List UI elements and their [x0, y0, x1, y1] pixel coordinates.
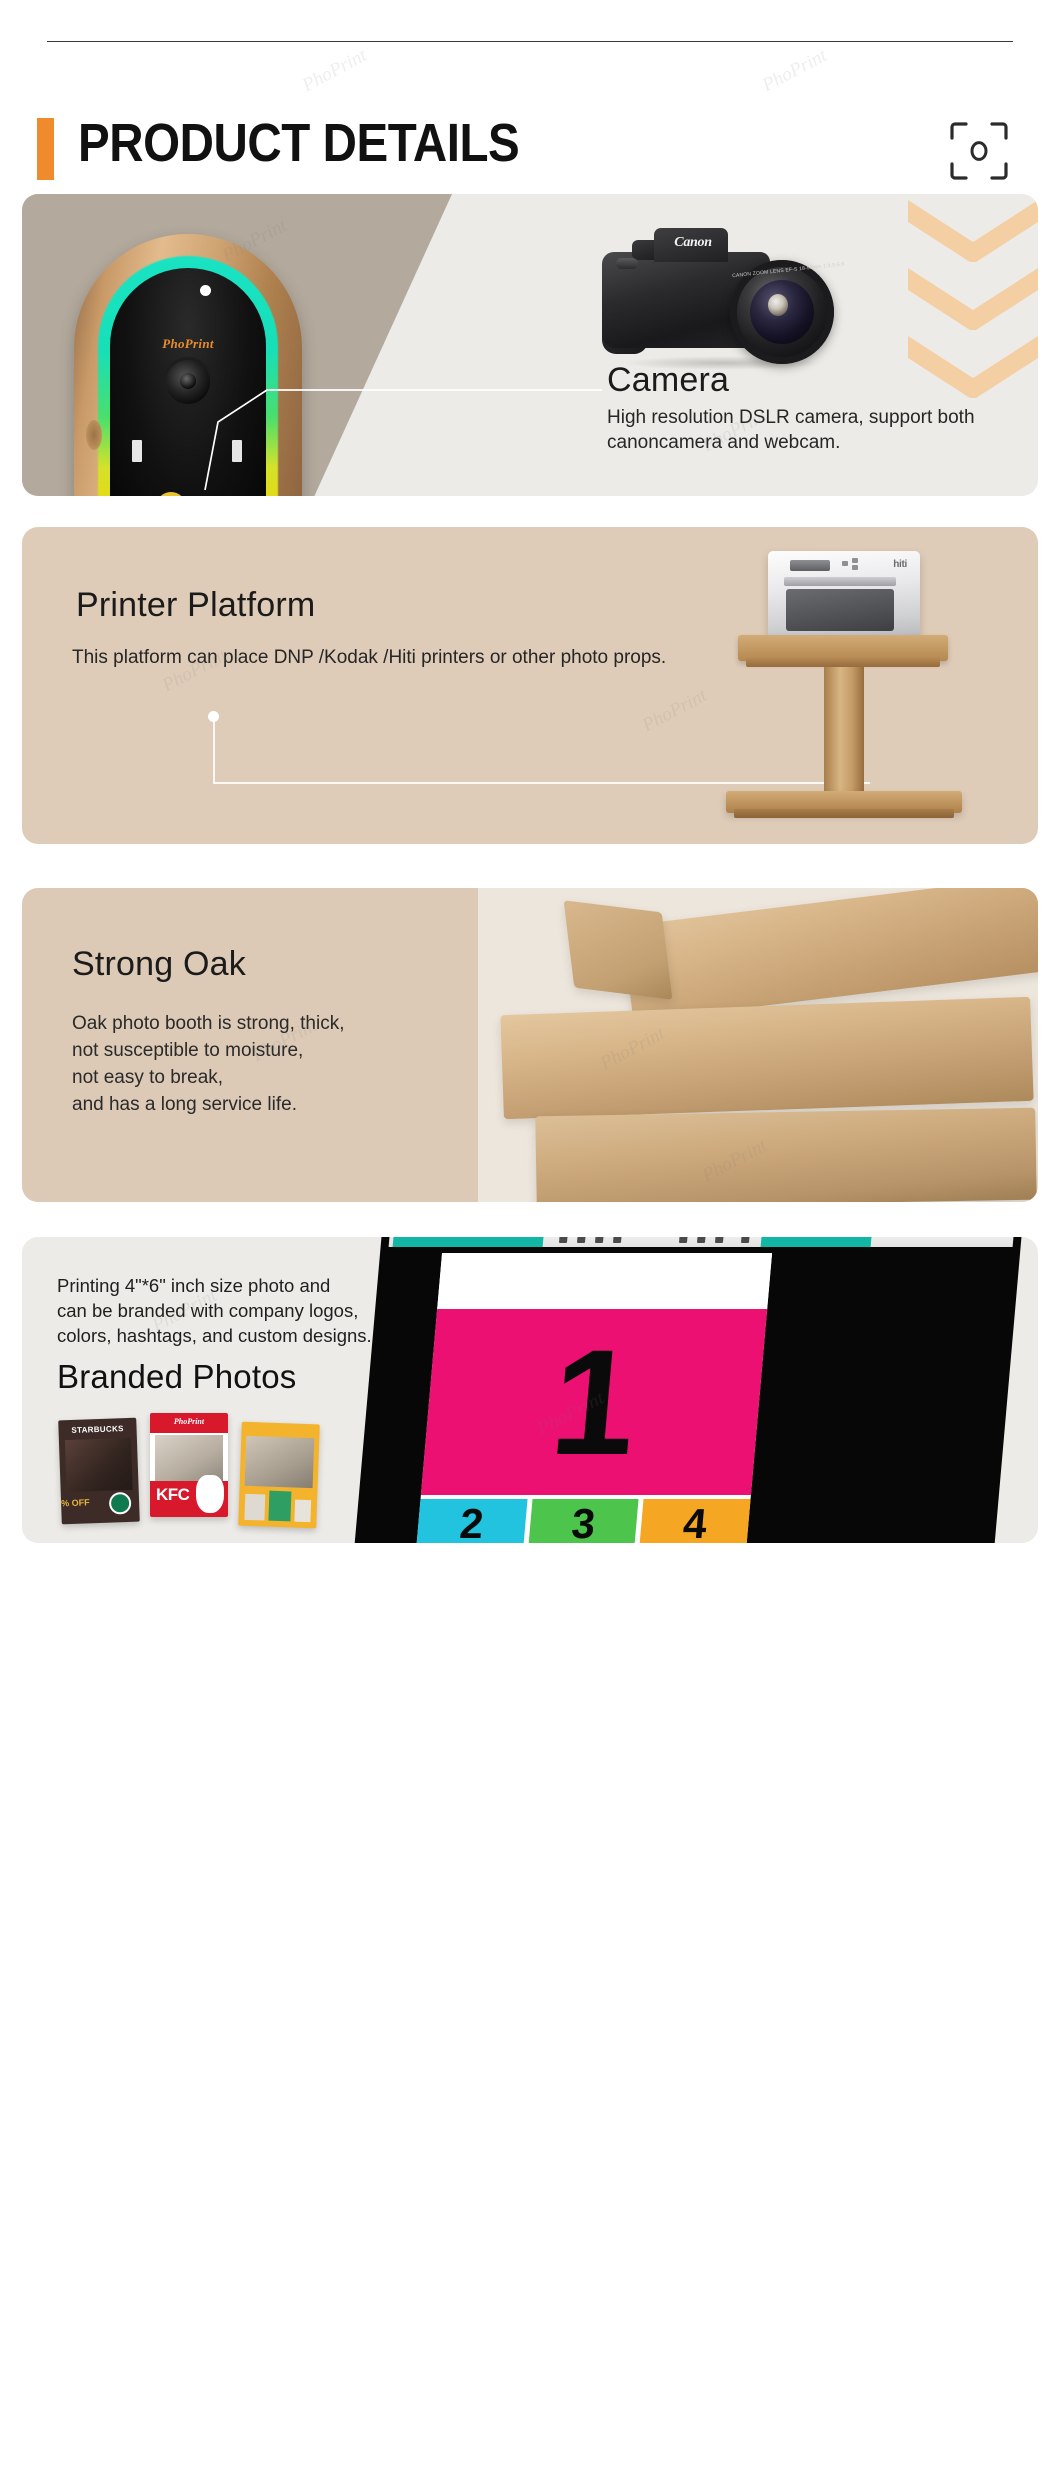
photo-printer: hiti: [768, 551, 920, 639]
toolbar-text-icon[interactable]: [697, 1237, 706, 1243]
strip-logo-kfc: [196, 1475, 224, 1513]
strong-oak-desc-line-2: not susceptible to moisture,: [72, 1037, 632, 1064]
canvas-swatch-row: 2 3 4: [416, 1499, 750, 1543]
strong-oak-desc-line-4: and has a long service life.: [72, 1091, 632, 1118]
product-details-page: PRODUCT DETAILS PhoPrint: [0, 0, 1060, 2480]
strong-oak-title: Strong Oak: [72, 946, 246, 983]
toolbar-icon-2[interactable]: [577, 1237, 586, 1243]
printer-platform-description: This platform can place DNP /Kodak /Hiti…: [72, 645, 672, 670]
feature-card-printer-platform: Printer Platform This platform can place…: [22, 527, 1038, 844]
toolbar-delete-icon[interactable]: [741, 1237, 750, 1243]
toolbar-image-icon[interactable]: [679, 1237, 688, 1243]
printer-display: [790, 560, 830, 571]
toolbar-segment-left[interactable]: [393, 1237, 544, 1247]
editor-toolbar: [389, 1237, 1014, 1247]
strong-oak-desc-line-3: not easy to break,: [72, 1064, 632, 1091]
stand-column: [824, 667, 864, 795]
canvas-swatch-4[interactable]: 4: [640, 1499, 751, 1543]
toolbar-icon-1[interactable]: [559, 1237, 568, 1243]
booth-screen: PhoPrint Touch The Screen To: [110, 268, 266, 496]
feature-card-branded-photos: 1 2 3 4 PhoPrint Printing 4"*6" inch siz…: [22, 1237, 1038, 1543]
feature-card-strong-oak: PhoPrint Strong Oak Oak photo booth is s…: [22, 888, 1038, 1202]
printer-front-window: [786, 589, 894, 631]
printer-button-2: [852, 558, 858, 563]
feature-card-camera: PhoPrint Touch The Screen To: [22, 194, 1038, 496]
toolbar-segment-right[interactable]: [761, 1237, 872, 1247]
strip-deco-2: [268, 1491, 291, 1522]
dslr-camera-illustration: Canon CANON ZOOM LENS EF-S 18-55mm 1:3.5…: [602, 224, 852, 374]
dslr-brand-label: Canon: [658, 235, 728, 251]
stand-tabletop-edge: [746, 657, 940, 667]
header-divider: [47, 41, 1013, 42]
booth-start-circle: [156, 492, 186, 496]
chevron-down-icon-1: [908, 200, 1038, 262]
camera-title: Camera: [607, 362, 1007, 399]
booth-screen-marker-left: [132, 440, 142, 462]
printer-button-1: [842, 561, 848, 566]
strip-photo-starbucks: [65, 1438, 133, 1492]
toolbar-pen-icon[interactable]: [715, 1237, 724, 1243]
printer-platform-title: Printer Platform: [76, 587, 315, 624]
strip-brand-header-kfc: PhoPrint: [150, 1417, 228, 1426]
booth-screen-marker-right: [232, 440, 242, 462]
dslr-shutter-button: [616, 258, 638, 269]
canvas-swatch-3[interactable]: 3: [528, 1499, 639, 1543]
photo-strip-kfc[interactable]: PhoPrint KFC: [150, 1413, 228, 1517]
header-accent-bar: [37, 118, 54, 180]
strip-deco-3: [294, 1500, 311, 1523]
strip-logo-starbucks: [109, 1492, 132, 1515]
page-title: PRODUCT DETAILS: [78, 112, 519, 174]
photo-strip-starbucks[interactable]: STARBUCKS 20% OFF: [58, 1418, 140, 1525]
printer-callout-dot: [208, 711, 219, 722]
branded-photos-description: Printing 4"*6" inch size photo and can b…: [57, 1273, 497, 1348]
printer-button-3: [852, 565, 858, 570]
strong-oak-description: Oak photo booth is strong, thick, not su…: [72, 1010, 632, 1118]
branded-desc-line-2: can be branded with company logos,: [57, 1298, 497, 1323]
photo-strip-orange[interactable]: [238, 1422, 320, 1529]
camera-description: High resolution DSLR camera, support bot…: [607, 405, 1007, 455]
printer-housing: hiti: [768, 551, 920, 637]
scan-frame-icon: [948, 120, 1010, 182]
oak-beam-top-endgrain: [564, 900, 673, 999]
watermark-2: PhoPrint: [759, 45, 831, 97]
printer-stand-illustration: hiti: [682, 543, 1012, 833]
branded-photo-strips: STARBUCKS 20% OFF PhoPrint KFC: [60, 1413, 360, 1523]
branded-photos-title: Branded Photos: [57, 1359, 296, 1395]
strip-brand-starbucks: STARBUCKS: [58, 1424, 136, 1436]
branded-desc-line-3: colors, hashtags, and custom designs.: [57, 1323, 497, 1348]
toolbar-icon-3[interactable]: [595, 1237, 604, 1243]
camera-callout-dot: [200, 285, 211, 296]
booth-wood-knot: [86, 420, 102, 450]
oak-beam-bottom: [535, 1108, 1037, 1202]
toolbar-icon-4[interactable]: [613, 1237, 622, 1243]
stand-base-edge: [734, 809, 954, 818]
strip-deco-1: [244, 1494, 265, 1521]
printer-brand-label: hiti: [893, 559, 907, 570]
photo-booth-illustration: PhoPrint Touch The Screen To: [74, 234, 302, 496]
camera-text-block: Camera High resolution DSLR camera, supp…: [607, 362, 1007, 455]
branded-desc-line-1: Printing 4"*6" inch size photo and: [57, 1273, 497, 1298]
canvas-swatch-2[interactable]: 2: [416, 1499, 527, 1543]
booth-logo: PhoPrint: [110, 336, 266, 352]
strong-oak-desc-line-1: Oak photo booth is strong, thick,: [72, 1010, 632, 1037]
booth-camera-lens: [166, 360, 210, 404]
watermark-1: PhoPrint: [299, 45, 371, 97]
chevron-down-icon-2: [908, 268, 1038, 330]
printer-paper-slot: [784, 577, 896, 586]
page-header: PRODUCT DETAILS: [0, 110, 1060, 190]
strip-photo-orange: [245, 1436, 315, 1488]
